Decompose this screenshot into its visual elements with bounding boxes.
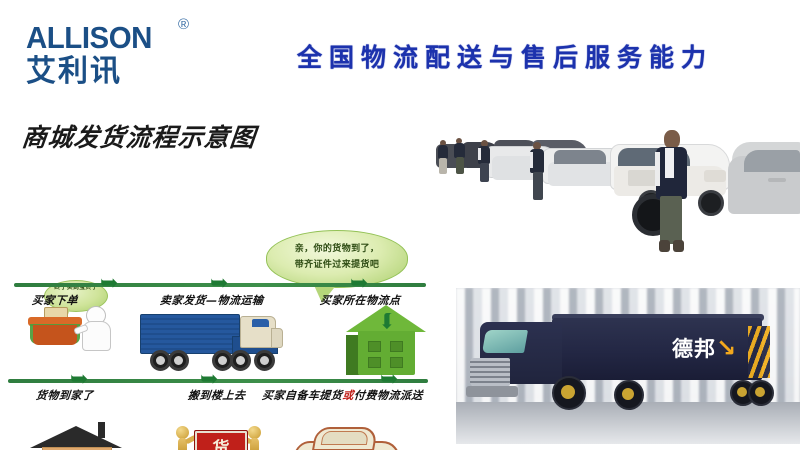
buyer-figure-icon xyxy=(78,306,116,352)
flow-label-row2-1: 搬到楼上去 xyxy=(187,387,246,403)
flow-label-row1-0: 买家下单 xyxy=(31,292,78,308)
arrival-speech-bubble: 亲，你的货物到了， 带齐证件过来提货吧 xyxy=(266,230,408,288)
slide-canvas: ALLISON ® 艾利讯 全国物流配送与售后服务能力 商城发货流程示意图 亲，… xyxy=(0,0,800,450)
truck-wheel xyxy=(614,380,644,410)
truck-wheel xyxy=(748,380,774,406)
truck-wheel xyxy=(552,376,586,410)
service-vehicle-fleet-photo xyxy=(432,112,800,270)
staff-figure xyxy=(438,140,448,174)
flow-arrow-2-icon: ➥ xyxy=(210,272,228,294)
arrival-bubble-line1: 亲，你的货物到了， xyxy=(295,244,380,254)
flow-label-row1-2: 买家所在物流点 xyxy=(319,292,401,308)
flow-label-row2-2: 买家自备车提货或付费物流派送 xyxy=(261,387,423,403)
two-carriers-cargo-icon: 货 xyxy=(168,422,272,450)
deppon-logo: 德邦↘ xyxy=(672,334,742,362)
tan-house-icon xyxy=(30,422,122,450)
deppon-logistics-truck-photo: 德邦↘ xyxy=(456,288,800,444)
flow-label-row2-2-suffix: 付费物流派送 xyxy=(353,389,423,402)
flowchart-title: 商城发货流程示意图 xyxy=(20,118,258,154)
flow-label-row1-1: 卖家发货—物流运输 xyxy=(159,292,264,308)
staff-figure-foreground xyxy=(654,130,688,262)
deppon-logo-text: 德邦 xyxy=(672,337,716,361)
arrival-bubble-text: 亲，你的货物到了， 带齐证件过来提货吧 xyxy=(277,242,397,274)
flow-arrow-7-icon: ➥ xyxy=(376,312,398,330)
cargo-box: 货 xyxy=(194,430,248,450)
staff-figure xyxy=(530,142,544,200)
staff-figure xyxy=(454,138,465,174)
arrival-bubble-line2: 带齐证件过来提货吧 xyxy=(295,260,380,270)
flow-arrow-3-icon: ➥ xyxy=(350,272,368,294)
shipping-flowchart: 商城发货流程示意图 亲，你的货物到了， 带齐证件过来提货吧 终于买到宝贝了 xyxy=(0,100,440,420)
allison-logo: ALLISON ® 艾利讯 xyxy=(26,22,216,88)
deppon-logo-mark-icon: ↘ xyxy=(716,334,737,362)
slide-header: ALLISON ® 艾利讯 全国物流配送与售后服务能力 xyxy=(0,0,800,100)
flow-arrow-1-icon: ➥ xyxy=(100,272,118,294)
flow-label-row2-2-prefix: 买家自备车提货 xyxy=(261,389,343,402)
logo-wordmark-cn: 艾利讯 xyxy=(26,56,216,88)
flow-label-row2-0: 货物到家了 xyxy=(35,387,94,403)
sketch-car-icon xyxy=(292,425,400,450)
blue-semi-truck-icon xyxy=(140,310,288,374)
page-title: 全国物流配送与售后服务能力 xyxy=(240,38,770,74)
gift-box-icon xyxy=(28,307,82,345)
cargo-box-label: 货 xyxy=(195,434,247,450)
staff-figure xyxy=(478,140,490,182)
registered-trademark-icon: ® xyxy=(178,16,189,33)
